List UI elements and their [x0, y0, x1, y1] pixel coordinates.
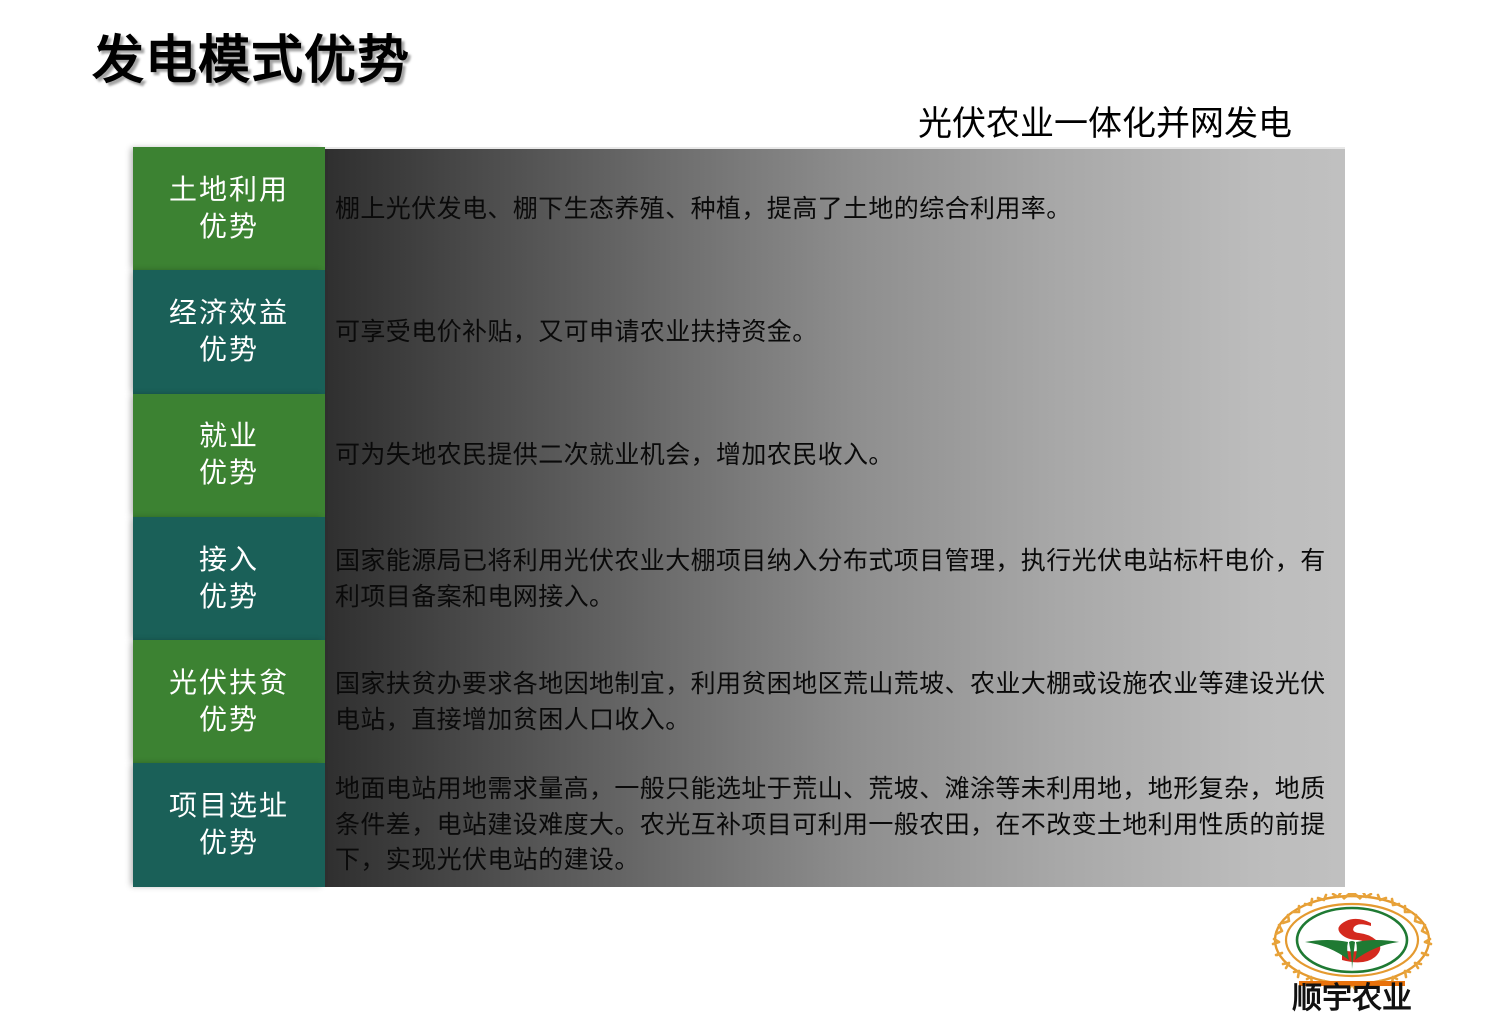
advantage-label-line2: 优势 [199, 702, 259, 739]
advantage-label-line1: 经济效益 [169, 295, 289, 332]
advantage-description: 棚上光伏发电、棚下生态养殖、种植，提高了土地的综合利用率。 [335, 191, 1329, 227]
advantage-label-line1: 土地利用 [169, 172, 289, 209]
advantage-row: 经济效益优势可享受电价补贴，又可申请农业扶持资金。 [133, 270, 1345, 393]
advantage-rows: 土地利用优势棚上光伏发电、棚下生态养殖、种植，提高了土地的综合利用率。经济效益优… [133, 147, 1345, 887]
advantage-description: 地面电站用地需求量高，一般只能选址于荒山、荒坡、滩涂等未利用地，地形复杂，地质条… [335, 771, 1329, 878]
advantage-description: 可享受电价补贴，又可申请农业扶持资金。 [335, 314, 1329, 350]
advantages-panel: 土地利用优势棚上光伏发电、棚下生态养殖、种植，提高了土地的综合利用率。经济效益优… [133, 147, 1345, 887]
advantage-body: 可为失地农民提供二次就业机会，增加农民收入。 [325, 394, 1345, 517]
advantage-body: 国家能源局已将利用光伏农业大棚项目纳入分布式项目管理，执行光伏电站标杆电价，有利… [325, 517, 1345, 640]
advantage-body: 地面电站用地需求量高，一般只能选址于荒山、荒坡、滩涂等未利用地，地形复杂，地质条… [325, 763, 1345, 886]
advantage-label-3[interactable]: 就业优势 [133, 394, 325, 517]
advantage-description: 可为失地农民提供二次就业机会，增加农民收入。 [335, 437, 1329, 473]
advantage-label-line1: 接入 [199, 542, 259, 579]
advantage-description: 国家扶贫办要求各地因地制宜，利用贫困地区荒山荒坡、农业大棚或设施农业等建设光伏电… [335, 666, 1329, 737]
advantage-description: 国家能源局已将利用光伏农业大棚项目纳入分布式项目管理，执行光伏电站标杆电价，有利… [335, 543, 1329, 614]
advantage-row: 项目选址优势地面电站用地需求量高，一般只能选址于荒山、荒坡、滩涂等未利用地，地形… [133, 763, 1345, 886]
advantage-row: 就业优势可为失地农民提供二次就业机会，增加农民收入。 [133, 394, 1345, 517]
advantage-label-5[interactable]: 光伏扶贫优势 [133, 640, 325, 763]
advantage-label-line1: 项目选址 [169, 788, 289, 825]
advantage-label-line2: 优势 [199, 209, 259, 246]
advantage-label-6[interactable]: 项目选址优势 [133, 763, 325, 886]
advantage-row: 光伏扶贫优势国家扶贫办要求各地因地制宜，利用贫困地区荒山荒坡、农业大棚或设施农业… [133, 640, 1345, 763]
advantage-label-4[interactable]: 接入优势 [133, 517, 325, 640]
page-title: 发电模式优势 [92, 18, 410, 93]
company-logo: 顺宇农业 [1243, 893, 1461, 1013]
advantage-label-line1: 就业 [199, 418, 259, 455]
advantage-label-1[interactable]: 土地利用优势 [133, 147, 325, 270]
advantage-label-line2: 优势 [199, 825, 259, 862]
logo-company-name: 顺宇农业 [1292, 981, 1412, 1013]
advantage-row: 土地利用优势棚上光伏发电、棚下生态养殖、种植，提高了土地的综合利用率。 [133, 147, 1345, 270]
advantage-row: 接入优势国家能源局已将利用光伏农业大棚项目纳入分布式项目管理，执行光伏电站标杆电… [133, 517, 1345, 640]
advantage-label-line1: 光伏扶贫 [169, 665, 289, 702]
advantage-label-line2: 优势 [199, 332, 259, 369]
advantage-label-line2: 优势 [199, 455, 259, 492]
page-subtitle: 光伏农业一体化并网发电 [918, 96, 1292, 145]
advantage-body: 国家扶贫办要求各地因地制宜，利用贫困地区荒山荒坡、农业大棚或设施农业等建设光伏电… [325, 640, 1345, 763]
advantage-body: 可享受电价补贴，又可申请农业扶持资金。 [325, 270, 1345, 393]
advantage-label-2[interactable]: 经济效益优势 [133, 270, 325, 393]
company-logo-icon: 顺宇农业 [1243, 893, 1461, 1013]
advantage-label-line2: 优势 [199, 579, 259, 616]
advantage-body: 棚上光伏发电、棚下生态养殖、种植，提高了土地的综合利用率。 [325, 147, 1345, 270]
